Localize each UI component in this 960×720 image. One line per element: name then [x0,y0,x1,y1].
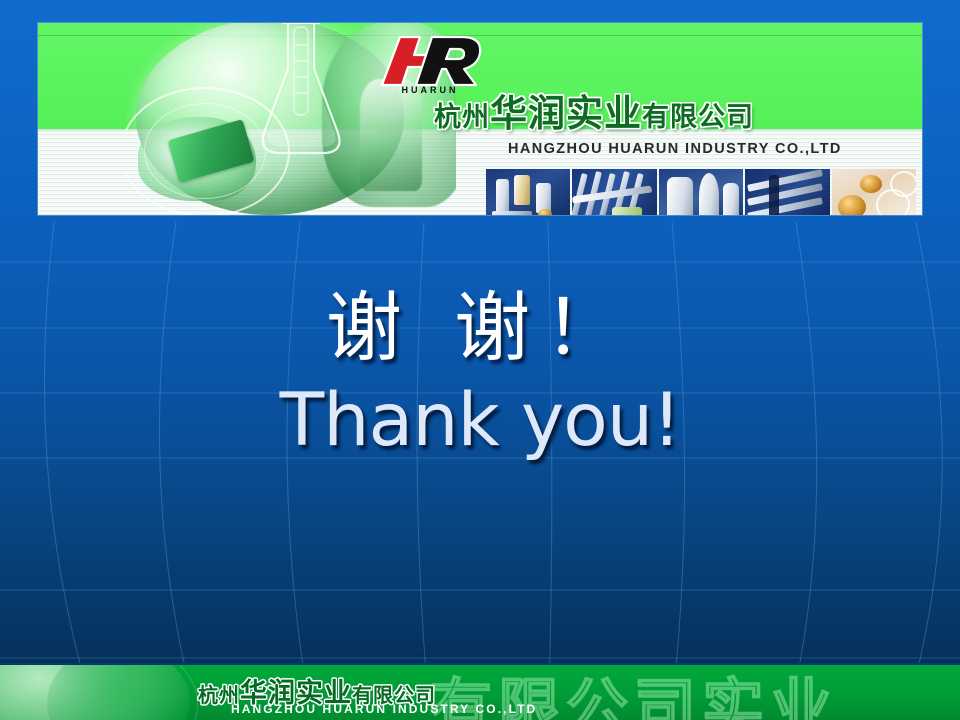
banner-name-prefix: 杭州 [434,102,490,133]
footer-company-name-en: HANGZHOU HUARUN INDUSTRY CO.,LTD [231,702,537,716]
plastic-bottles-photo [659,169,743,215]
thank-you-block: 谢 谢！ Thank you! [0,288,960,461]
footer-sphere-graphic-secondary [46,663,198,720]
footer-bar: 有限公司实业 杭州华润实业有限公司 HANGZHOU HUARUN INDUST… [0,663,960,720]
pipettes-photo [572,169,656,215]
banner-company-name-en: HANGZHOU HUARUN INDUSTRY CO.,LTD [508,141,842,157]
company-banner: HUARUN 杭州华润实业有限公司 HANGZHOU HUARUN INDUST… [38,23,922,215]
banner-name-core: 华润实业 [490,92,642,135]
spray-bottles-photo [486,169,570,215]
thanks-english-text: Thank you! [0,382,960,461]
product-photo-strip [486,169,916,215]
thanks-chinese-text: 谢 谢！ [0,288,960,368]
banner-name-suffix: 有限公司 [642,102,754,133]
banner-company-name-cn: 杭州华润实业有限公司 [434,83,754,137]
syringe-components-photo [745,169,829,215]
slide-canvas: HUARUN 杭州华润实业有限公司 HANGZHOU HUARUN INDUST… [0,0,960,720]
sphere-outline-ring-inner [144,103,266,199]
amber-glass-caps-photo [832,169,916,215]
